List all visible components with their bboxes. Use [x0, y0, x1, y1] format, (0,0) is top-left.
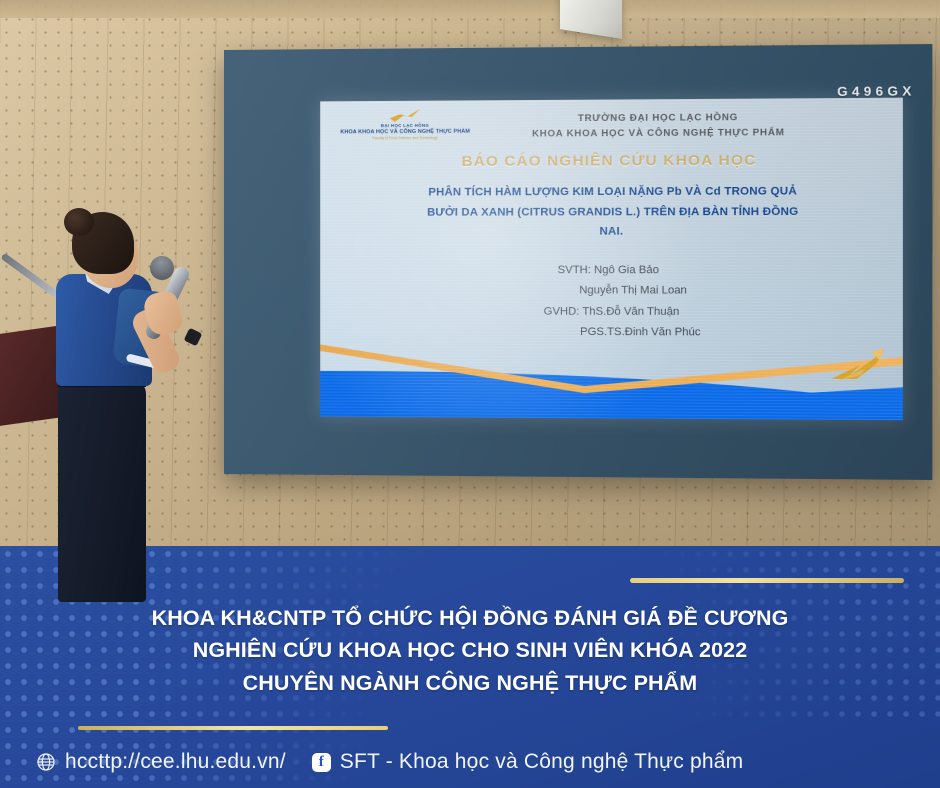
banner-footer: hccttp://cee.lhu.edu.vn/ f SFT - Khoa họ…	[0, 750, 940, 774]
ceiling-strip	[0, 0, 940, 18]
slide-student-2: Nguyễn Thị Mai Loan	[320, 280, 903, 301]
facebook-icon: f	[312, 753, 331, 772]
headline-line-1: KHOA KH&CNTP TỔ CHỨC HỘI ĐỒNG ĐÁNH GIÁ Đ…	[0, 602, 940, 634]
presenter-person	[34, 212, 224, 602]
presentation-slide: ĐẠI HỌC LẠC HỒNG KHOA KHOA HỌC VÀ CÔNG N…	[320, 98, 903, 421]
gold-divider-left	[78, 726, 388, 730]
slide-advisor-2: PGS.TS.Đinh Văn Phúc	[320, 321, 903, 343]
headline-line-3: CHUYÊN NGÀNH CÔNG NGHỆ THỰC PHẨM	[0, 667, 940, 699]
globe-icon	[36, 752, 56, 772]
headline-line-2: NGHIÊN CỨU KHOA HỌC CHO SINH VIÊN KHÓA 2…	[0, 634, 940, 666]
slide-header: TRƯỜNG ĐẠI HỌC LẠC HỒNG KHOA KHOA HỌC VÀ…	[442, 110, 878, 142]
slide-topic: PHÂN TÍCH HÀM LƯỢNG KIM LOẠI NẶNG Pb VÀ …	[361, 182, 868, 243]
presenter-hair-bun	[64, 208, 94, 236]
slide-advisor-1: GVHD: ThS.Đỗ Văn Thuận	[320, 301, 903, 323]
slide-topic-line-3: NAI.	[361, 222, 868, 242]
website-url-text: hccttp://cee.lhu.edu.vn/	[65, 750, 286, 774]
slide-topic-line-1: PHÂN TÍCH HÀM LƯỢNG KIM LOẠI NẶNG Pb VÀ …	[361, 182, 868, 203]
slide-topic-line-2: BƯỞI DA XANH (CITRUS GRANDIS L.) TRÊN ĐỊ…	[361, 202, 868, 223]
projection-screen: G496GX ĐẠI HỌC LẠC HỒNG KHOA KHOA HỌC VÀ…	[224, 44, 932, 480]
lac-hong-bird-icon	[390, 109, 420, 122]
presenter-trousers	[58, 378, 146, 602]
slide-student-1: SVTH: Ngô Gia Bảo	[320, 260, 903, 281]
microphone-tip	[184, 328, 203, 347]
camera-watermark-text: G496GX	[837, 83, 915, 99]
banner-headline: KHOA KH&CNTP TỔ CHỨC HỘI ĐỒNG ĐÁNH GIÁ Đ…	[0, 602, 940, 699]
gold-divider-right	[630, 578, 904, 583]
slide-bird-arrow-icon	[829, 348, 886, 383]
slide-people-list: SVTH: Ngô Gia Bảo Nguyễn Thị Mai Loan GV…	[320, 260, 903, 344]
facebook-link[interactable]: f SFT - Khoa học và Công nghệ Thực phẩm	[312, 750, 744, 774]
poster-image: G496GX ĐẠI HỌC LẠC HỒNG KHOA KHOA HỌC VÀ…	[0, 0, 940, 788]
slide-main-title: BÁO CÁO NGHIÊN CỨU KHOA HỌC	[320, 151, 903, 171]
facebook-page-text: SFT - Khoa học và Công nghệ Thực phẩm	[340, 750, 744, 774]
website-link[interactable]: hccttp://cee.lhu.edu.vn/	[36, 750, 286, 774]
slide-header-faculty: KHOA KHOA HỌC VÀ CÔNG NGHỆ THỰC PHẨM	[442, 125, 878, 142]
